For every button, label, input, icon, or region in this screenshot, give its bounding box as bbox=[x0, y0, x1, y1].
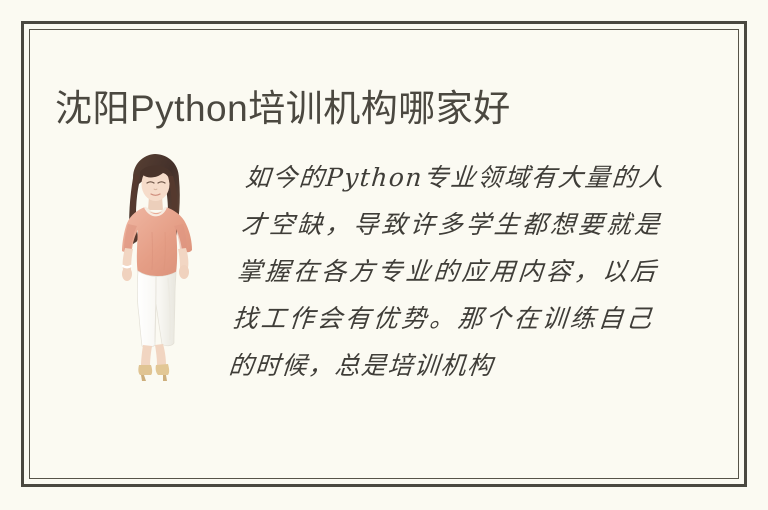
fold-1 bbox=[152, 232, 153, 270]
woman-walking-illustration bbox=[95, 152, 215, 382]
bracelet bbox=[123, 266, 131, 267]
left-hand bbox=[122, 267, 132, 281]
article-body: 如今的Python专业领域有大量的人才空缺，导致许多学生都想要就是掌握在各方专业… bbox=[227, 154, 668, 389]
page-root: 沈阳Python培训机构哪家好 bbox=[0, 0, 768, 510]
left-shoe bbox=[138, 365, 152, 375]
page-title: 沈阳Python培训机构哪家好 bbox=[55, 84, 695, 134]
right-shoe bbox=[156, 364, 170, 375]
right-heel bbox=[163, 375, 167, 381]
left-heel bbox=[141, 375, 146, 381]
right-hand bbox=[179, 265, 189, 279]
right-lower-leg bbox=[155, 344, 166, 367]
left-lower-leg bbox=[141, 345, 152, 368]
article-body-text: 如今的Python专业领域有大量的人才空缺，导致许多学生都想要就是掌握在各方专业… bbox=[227, 154, 668, 389]
article-content: 如今的Python专业领域有大量的人才空缺，导致许多学生都想要就是掌握在各方专业… bbox=[55, 140, 685, 460]
